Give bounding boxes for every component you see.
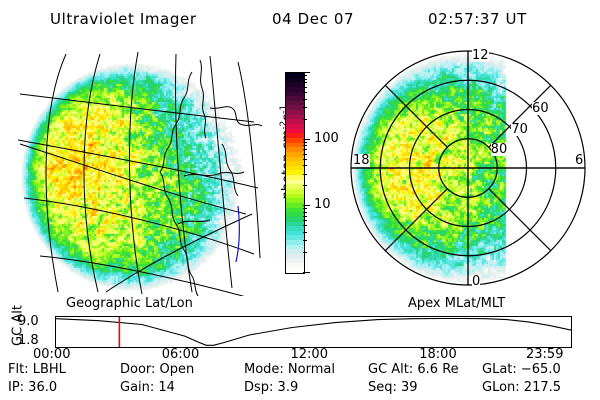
grid-line — [238, 62, 260, 258]
status-glon: GLon: 217.5 — [482, 380, 561, 395]
mlat-label-60: 60 — [532, 102, 549, 115]
grid-line — [129, 52, 142, 294]
grid-line — [18, 140, 258, 188]
orbit-xtick-1200: 12:00 — [291, 348, 328, 361]
mlt-label-12: 12 — [472, 49, 489, 62]
colorbar-tick — [303, 212, 307, 213]
grid-line — [20, 144, 246, 214]
mlt-label-18: 18 — [353, 154, 370, 167]
colorbar-tick — [303, 154, 307, 155]
colorbar-tick — [303, 87, 307, 88]
colorbar-tick — [303, 82, 307, 83]
status-glat: GLat: −65.0 — [482, 362, 561, 377]
status-bar: Flt: LBHL Door: Open Mode: Normal GC Alt… — [0, 362, 600, 400]
grid-line — [84, 54, 100, 292]
colorbar-tick — [303, 75, 307, 76]
grid-line — [24, 198, 254, 254]
apex-panel-title: Apex MLat/MLT — [408, 296, 505, 311]
colorbar-tick — [303, 149, 307, 150]
colorbar-tick — [303, 92, 307, 93]
colorbar-tick — [303, 119, 307, 120]
orbit-altitude-strip[interactable]: GC Alt 9.0 1.8 00:00 06:00 12:00 18:00 2… — [0, 310, 600, 356]
orbit-altitude-curve — [56, 317, 571, 347]
mlt-label-0: 0 — [472, 275, 480, 288]
apex-grid-overlay — [348, 48, 588, 296]
colorbar-tick — [303, 240, 307, 241]
status-seq: Seq: 39 — [368, 380, 418, 395]
colorbar-ticks — [303, 72, 311, 272]
orbit-xtick-0000: 00:00 — [33, 348, 70, 361]
status-gc-alt: GC Alt: 6.6 Re — [368, 362, 459, 377]
colorbar-tick — [303, 107, 307, 108]
geographic-grid-overlay — [14, 48, 262, 296]
status-door: Door: Open — [120, 362, 194, 377]
grid-line — [40, 256, 250, 296]
colorbar-tick — [303, 205, 310, 206]
colorbar-group: photon cm-2s-1 100 10 — [262, 48, 348, 296]
orbit-plot-box — [55, 316, 572, 348]
apex-dial-panel[interactable]: 12 18 6 0 60 70 80 — [348, 48, 588, 296]
grid-line — [240, 124, 262, 126]
colorbar-tick — [303, 139, 310, 140]
colorbar-tick — [303, 159, 307, 160]
status-gain: Gain: 14 — [120, 380, 175, 395]
mlt-spoke — [385, 189, 447, 251]
colorbar-tick — [303, 272, 310, 273]
colorbar-label-10: 10 — [314, 198, 331, 211]
mlt-spoke — [385, 85, 447, 147]
colorbar-tick — [303, 142, 307, 143]
orbit-xtick-1800: 18:00 — [419, 348, 456, 361]
colorbar-tick — [303, 99, 307, 100]
colorbar-tick — [303, 216, 307, 217]
status-dsp: Dsp: 3.9 — [244, 380, 298, 395]
grid-line — [222, 144, 238, 196]
mlat-label-70: 70 — [511, 123, 528, 136]
status-mode: Mode: Normal — [244, 362, 335, 377]
colorbar-tick — [303, 165, 307, 166]
colorbar-tick — [303, 145, 307, 146]
mlt-spoke — [489, 189, 551, 251]
colorbar-tick — [303, 225, 307, 226]
mlt-spoke — [489, 85, 551, 147]
colorbar-tick — [303, 72, 310, 73]
status-ip: IP: 36.0 — [8, 380, 57, 395]
instrument-title: Ultraviolet Imager — [50, 10, 197, 28]
status-flight: Flt: LBHL — [8, 362, 66, 377]
colorbar-band — [286, 268, 304, 273]
colorbar-tick — [303, 185, 307, 186]
orbit-xtick-0600: 06:00 — [162, 348, 199, 361]
observation-date: 04 Dec 07 — [272, 10, 354, 28]
colorbar-tick — [303, 174, 307, 175]
colorbar-gradient — [285, 72, 305, 274]
mlt-label-6: 6 — [575, 154, 583, 167]
colorbar-tick — [303, 79, 307, 80]
observation-time: 02:57:37 UT — [428, 10, 527, 28]
header-bar: Ultraviolet Imager 04 Dec 07 02:57:37 UT — [0, 6, 600, 32]
colorbar-label-100: 100 — [314, 132, 339, 145]
ultraviolet-imager-display: Ultraviolet Imager 04 Dec 07 02:57:37 UT… — [0, 0, 600, 400]
grid-line — [236, 206, 239, 262]
colorbar-tick — [303, 252, 307, 253]
altitude-curve — [56, 319, 571, 346]
geographic-panel-title: Geographic Lat/Lon — [66, 296, 193, 311]
mlat-label-80: 80 — [491, 143, 508, 156]
grid-line — [46, 54, 66, 292]
grid-line — [200, 60, 206, 138]
colorbar-tick — [303, 232, 307, 233]
colorbar-tick — [303, 220, 307, 221]
grid-line — [210, 107, 240, 124]
colorbar-tick — [303, 208, 307, 209]
geographic-image-panel[interactable] — [14, 48, 262, 296]
grid-line — [210, 56, 232, 288]
orbit-xtick-2359: 23:59 — [526, 348, 563, 361]
